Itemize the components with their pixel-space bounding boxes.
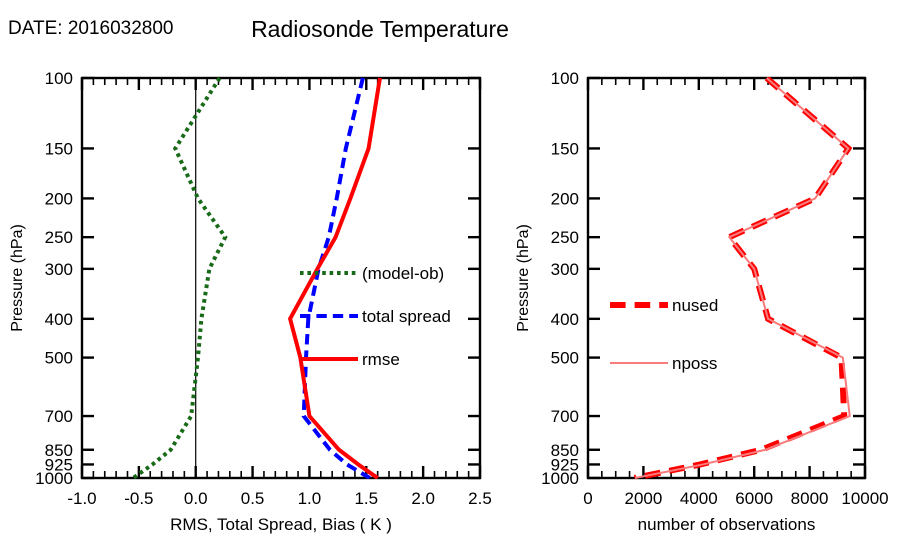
- right-panel-ylabel: Pressure (hPa): [515, 224, 532, 332]
- legend-label: nposs: [672, 354, 717, 373]
- legend-item-rmse[interactable]: rmse: [300, 350, 400, 369]
- left-panel-series: [133, 78, 380, 478]
- x-tick-label: 2.0: [411, 489, 435, 508]
- y-tick-label: 700: [45, 407, 73, 426]
- x-tick-label: 0.0: [184, 489, 208, 508]
- y-tick-label: 400: [551, 310, 579, 329]
- y-tick-label: 1000: [35, 469, 73, 488]
- y-tick-label: 500: [551, 349, 579, 368]
- x-tick-label: -1.0: [67, 489, 96, 508]
- right-panel-frame: [588, 78, 865, 478]
- x-tick-label: 10000: [841, 489, 888, 508]
- left-panel-legend: (model-ob)total spreadrmse: [300, 264, 451, 369]
- legend-label: total spread: [362, 307, 451, 326]
- x-tick-label: 4000: [680, 489, 718, 508]
- y-tick-label: 200: [551, 189, 579, 208]
- y-tick-label: 100: [45, 69, 73, 88]
- right-panel-legend: nusednposs: [610, 296, 718, 373]
- y-tick-label: 700: [551, 407, 579, 426]
- y-tick-label: 200: [45, 189, 73, 208]
- legend-label: (model-ob): [362, 264, 444, 283]
- y-tick-label: 250: [45, 228, 73, 247]
- x-tick-label: 1.5: [354, 489, 378, 508]
- x-tick-label: 0.5: [241, 489, 265, 508]
- legend-label: nused: [672, 296, 718, 315]
- x-tick-label: 0: [583, 489, 592, 508]
- y-tick-label: 300: [45, 260, 73, 279]
- legend-item-nused[interactable]: nused: [610, 296, 718, 315]
- series--model-ob-: [133, 78, 225, 478]
- y-tick-label: 150: [45, 139, 73, 158]
- y-tick-label: 1000: [541, 469, 579, 488]
- y-tick-label: 500: [45, 349, 73, 368]
- y-tick-label: 250: [551, 228, 579, 247]
- x-tick-label: 2.5: [468, 489, 492, 508]
- series-nused: [635, 78, 849, 478]
- radiosonde-temperature-figure: DATE: 2016032800 Radiosonde Temperature …: [0, 0, 900, 560]
- x-tick-label: -0.5: [124, 489, 153, 508]
- legend-label: rmse: [362, 350, 400, 369]
- y-tick-label: 150: [551, 139, 579, 158]
- left-panel: -1.0-0.50.00.51.01.52.02.510015020025030…: [9, 69, 492, 534]
- legend-item-nposs[interactable]: nposs: [610, 354, 717, 373]
- x-tick-label: 2000: [624, 489, 662, 508]
- profile-plots-canvas: -1.0-0.50.00.51.01.52.02.510015020025030…: [0, 0, 900, 560]
- x-tick-label: 8000: [791, 489, 829, 508]
- left-panel-ylabel: Pressure (hPa): [9, 224, 26, 332]
- x-tick-label: 6000: [735, 489, 773, 508]
- right-panel: 0200040006000800010000100150200250300400…: [515, 69, 889, 534]
- legend-item--model-ob-[interactable]: (model-ob): [300, 264, 444, 283]
- left-panel-xlabel: RMS, Total Spread, Bias ( K ): [170, 515, 392, 534]
- x-tick-label: 1.0: [298, 489, 322, 508]
- right-panel-series: [635, 78, 850, 478]
- y-tick-label: 400: [45, 310, 73, 329]
- y-tick-label: 300: [551, 260, 579, 279]
- series-nposs: [635, 78, 850, 478]
- legend-item-total-spread[interactable]: total spread: [300, 307, 451, 326]
- y-tick-label: 100: [551, 69, 579, 88]
- right-panel-xlabel: number of observations: [638, 515, 816, 534]
